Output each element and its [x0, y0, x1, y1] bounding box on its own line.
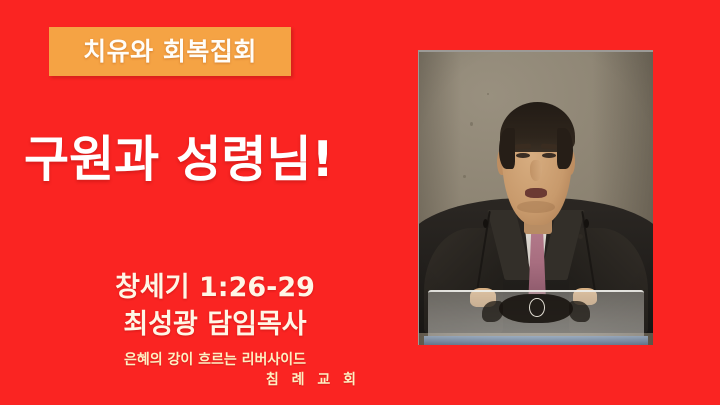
- page-title: 구원과 성령님!: [24, 133, 414, 188]
- speaker-name: 최성광 담임목사: [20, 307, 410, 342]
- nose: [530, 160, 542, 181]
- podium-emblem-ring: [529, 298, 545, 318]
- wall-speck: [487, 93, 489, 95]
- speaker-photo: [418, 50, 653, 345]
- hair-side-left: [499, 128, 515, 169]
- chin-shadow: [517, 201, 554, 213]
- podium-base-strip: [424, 336, 649, 345]
- photo-scene: [419, 52, 653, 345]
- microphone-head-right: [584, 219, 589, 228]
- church-name-line-1: 은혜의 강이 흐르는 리버사이드: [20, 350, 410, 370]
- scripture-reference: 창세기 1:26-29: [20, 270, 410, 305]
- mouth: [525, 188, 546, 197]
- event-banner: 치유와 회복집회: [49, 27, 291, 76]
- lapel-pin: [578, 234, 583, 239]
- church-name-line-2: 침 례 교 회: [20, 370, 410, 390]
- event-banner-label: 치유와 회복집회: [83, 39, 257, 64]
- sermon-info-block: 창세기 1:26-29 최성광 담임목사 은혜의 강이 흐르는 리버사이드 침 …: [20, 270, 410, 391]
- sermon-slide: 치유와 회복집회 구원과 성령님! 창세기 1:26-29 최성광 담임목사 은…: [0, 0, 720, 405]
